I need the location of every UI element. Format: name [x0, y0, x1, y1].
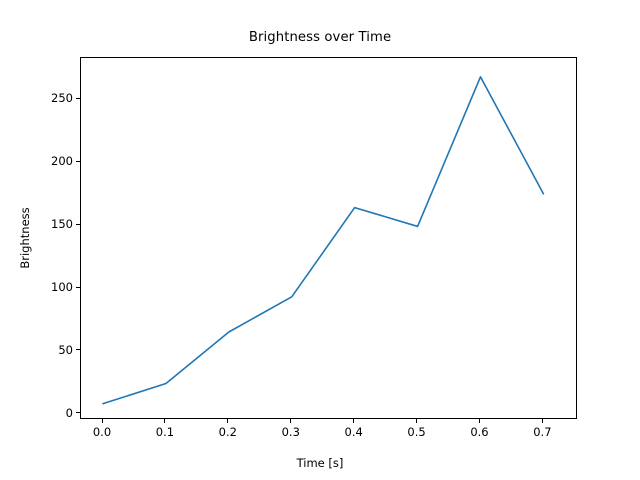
y-tick-mark: [76, 224, 80, 225]
x-tick-label: 0.4: [345, 425, 363, 439]
y-tick-mark: [76, 412, 80, 413]
y-tick-mark: [76, 161, 80, 162]
x-tick-mark: [542, 419, 543, 423]
y-tick-label: 150: [51, 217, 73, 231]
x-axis-label: Time [s]: [0, 456, 640, 470]
x-tick-label: 0.5: [407, 425, 425, 439]
x-tick-label: 0.6: [470, 425, 488, 439]
y-tick-label: 0: [66, 406, 73, 420]
y-tick-mark: [76, 287, 80, 288]
x-tick-mark: [353, 419, 354, 423]
y-tick-mark: [76, 349, 80, 350]
y-tick-label: 100: [51, 280, 73, 294]
x-tick-label: 0.7: [533, 425, 551, 439]
y-tick-label: 50: [58, 343, 73, 357]
x-tick-label: 0.0: [93, 425, 111, 439]
x-tick-mark: [416, 419, 417, 423]
x-tick-label: 0.2: [219, 425, 237, 439]
x-tick-label: 0.3: [282, 425, 300, 439]
x-tick-mark: [290, 419, 291, 423]
data-series-brightness-line: [103, 77, 543, 404]
chart-title: Brightness over Time: [0, 30, 640, 45]
x-tick-label: 0.1: [156, 425, 174, 439]
x-tick-mark: [479, 419, 480, 423]
y-tick-mark: [76, 98, 80, 99]
y-tick-label: 250: [51, 91, 73, 105]
x-tick-mark: [164, 419, 165, 423]
chart-figure: Brightness over Time 0.00.10.20.30.40.50…: [0, 0, 640, 480]
plot-canvas: [81, 58, 578, 420]
y-tick-label: 200: [51, 154, 73, 168]
plot-area: [80, 57, 577, 419]
y-axis-label: Brightness: [18, 207, 32, 268]
x-tick-mark: [227, 419, 228, 423]
x-tick-mark: [102, 419, 103, 423]
